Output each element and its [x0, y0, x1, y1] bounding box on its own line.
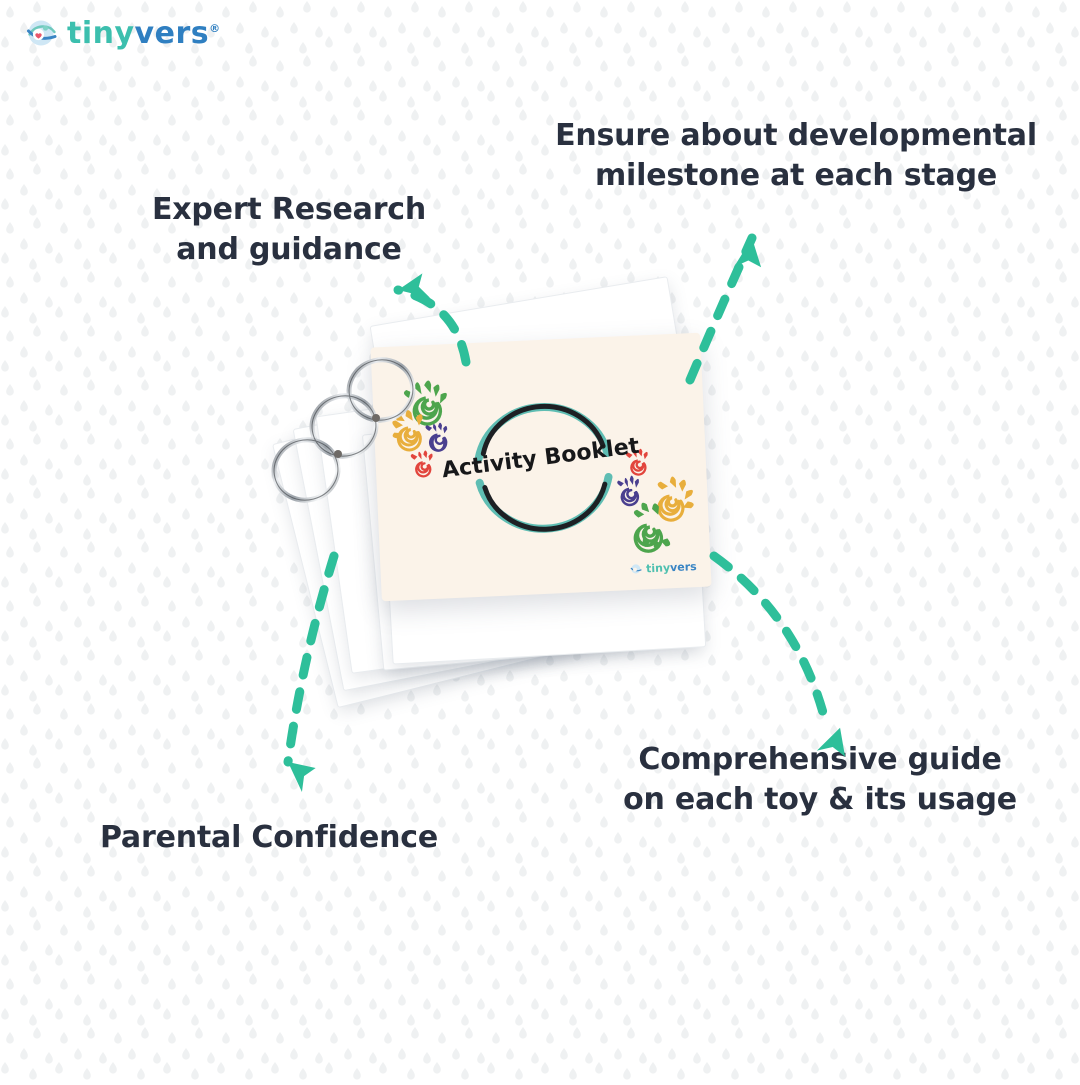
globe-baby-icon-small	[630, 562, 644, 576]
cover-logo-part1: tiny	[646, 561, 671, 575]
booklet-cover-logo-text: tinyvers	[646, 561, 697, 574]
binder-rings	[248, 348, 438, 548]
booklet-cover-logo: tinyvers	[630, 560, 697, 576]
activity-booklet-illustration: Activity Booklet tinyvers	[0, 0, 1080, 1080]
cover-logo-part2: vers	[670, 560, 697, 574]
